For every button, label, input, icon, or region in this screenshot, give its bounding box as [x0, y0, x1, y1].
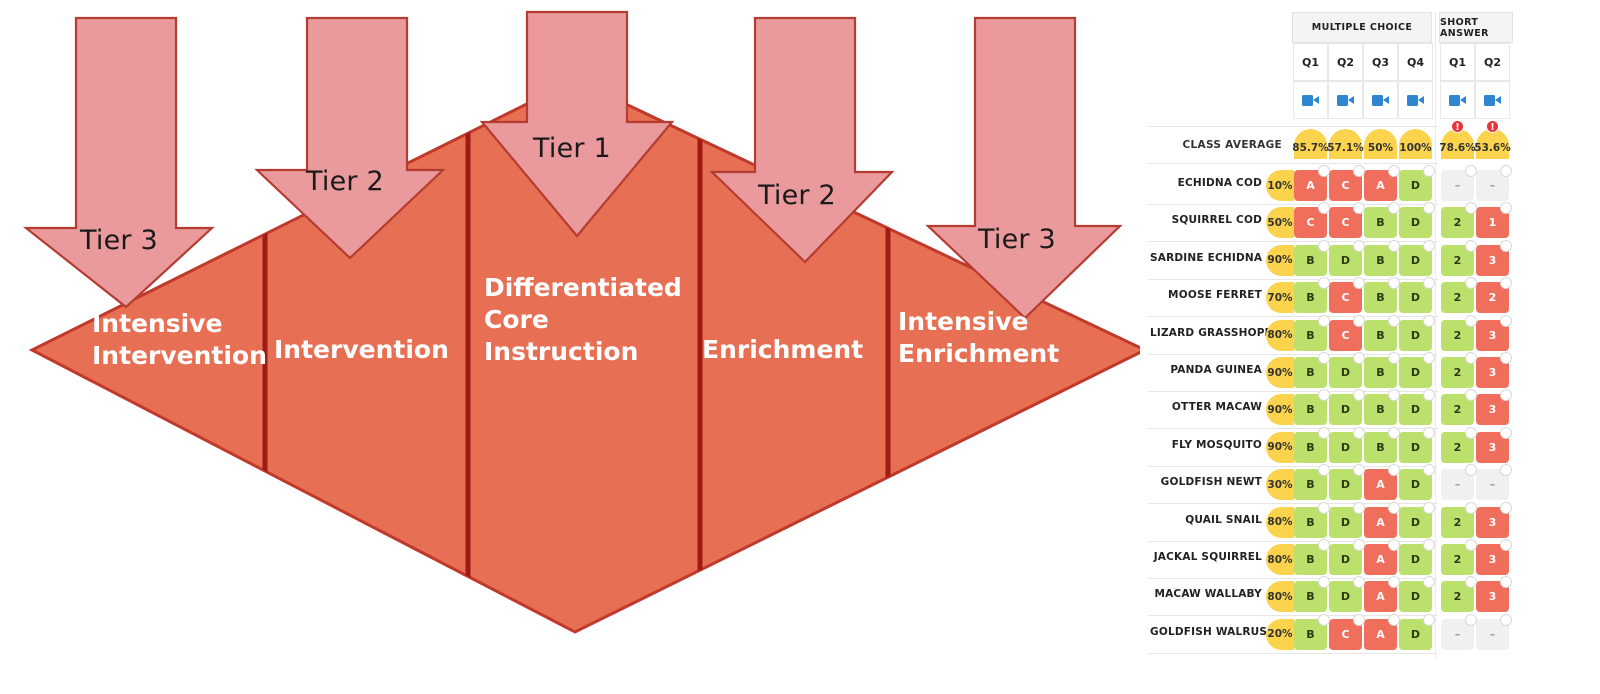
question-header-5[interactable]: Q2 [1475, 43, 1510, 81]
video-camera-icon [1484, 95, 1501, 106]
question-header-1[interactable]: Q2 [1328, 43, 1363, 81]
student-name-5[interactable]: PANDA GUINEA [1150, 364, 1262, 376]
student-score-2: 90% [1266, 245, 1294, 276]
student-score-5: 90% [1266, 357, 1294, 388]
student-score-6: 90% [1266, 394, 1294, 425]
class-average-label: CLASS AVERAGE [1150, 139, 1282, 151]
answer-marker-r7-c5[interactable] [1500, 427, 1512, 439]
row-separator-12 [1148, 653, 1438, 654]
student-score-1: 50% [1266, 207, 1294, 238]
class-average-value-4: 78.6% [1441, 129, 1474, 159]
answer-marker-r4-c2[interactable] [1388, 315, 1400, 327]
question-header-3[interactable]: Q4 [1398, 43, 1433, 81]
answer-marker-r6-c5[interactable] [1500, 389, 1512, 401]
band-label-intensive-enrichment: Intensive Enrichment [898, 306, 1059, 370]
answer-marker-r8-c3[interactable] [1423, 464, 1435, 476]
student-name-0[interactable]: ECHIDNA COD [1150, 177, 1262, 189]
student-score-10: 80% [1266, 544, 1294, 575]
answer-marker-r3-c5[interactable] [1500, 277, 1512, 289]
warning-exclamation-icon[interactable]: ! [1451, 120, 1464, 133]
class-average-value-1: 57.1% [1329, 129, 1362, 159]
student-name-7[interactable]: FLY MOSQUITO [1150, 439, 1262, 451]
answer-marker-r2-c0[interactable] [1318, 240, 1330, 252]
answer-marker-r10-c2[interactable] [1388, 539, 1400, 551]
answer-marker-r5-c5[interactable] [1500, 352, 1512, 364]
row-separator-avg-bottom [1148, 163, 1438, 164]
answer-marker-r0-c2[interactable] [1388, 165, 1400, 177]
student-score-11: 80% [1266, 581, 1294, 612]
answer-marker-r3-c3[interactable] [1423, 277, 1435, 289]
answer-marker-r5-c4[interactable] [1465, 352, 1477, 364]
answer-marker-r4-c1[interactable] [1353, 315, 1365, 327]
answer-marker-r11-c3[interactable] [1423, 576, 1435, 588]
answer-marker-r7-c4[interactable] [1465, 427, 1477, 439]
answer-marker-r4-c0[interactable] [1318, 315, 1330, 327]
answer-marker-r9-c5[interactable] [1500, 502, 1512, 514]
student-score-4: 80% [1266, 320, 1294, 351]
question-header-4[interactable]: Q1 [1440, 43, 1475, 81]
answer-marker-r10-c0[interactable] [1318, 539, 1330, 551]
answer-marker-r2-c5[interactable] [1500, 240, 1512, 252]
answer-marker-r9-c3[interactable] [1423, 502, 1435, 514]
answer-marker-r10-c1[interactable] [1353, 539, 1365, 551]
video-camera-icon [1449, 95, 1466, 106]
answer-marker-r10-c3[interactable] [1423, 539, 1435, 551]
rti-diamond-diagram: Tier 3 Tier 2 Tier 1 Tier 2 Tier 3 Inten… [0, 0, 1140, 694]
student-name-11[interactable]: MACAW WALLABY [1150, 588, 1262, 600]
answer-marker-r12-c2[interactable] [1388, 614, 1400, 626]
question-header-0[interactable]: Q1 [1293, 43, 1328, 81]
video-header-cell-3[interactable] [1398, 81, 1433, 119]
answer-marker-r1-c5[interactable] [1500, 202, 1512, 214]
answer-marker-r5-c3[interactable] [1423, 352, 1435, 364]
answer-marker-r1-c3[interactable] [1423, 202, 1435, 214]
answer-marker-r7-c3[interactable] [1423, 427, 1435, 439]
class-average-value-0: 85.7% [1294, 129, 1327, 159]
answer-marker-r0-c3[interactable] [1423, 165, 1435, 177]
answer-marker-r7-c2[interactable] [1388, 427, 1400, 439]
tier-arrow-label-5: Tier 3 [978, 224, 1056, 255]
video-header-cell-4[interactable] [1440, 81, 1475, 119]
student-score-12: 20% [1266, 619, 1294, 650]
answer-marker-r5-c2[interactable] [1388, 352, 1400, 364]
answer-marker-r2-c1[interactable] [1353, 240, 1365, 252]
answer-marker-r7-c0[interactable] [1318, 427, 1330, 439]
answer-marker-r9-c0[interactable] [1318, 502, 1330, 514]
answer-marker-r12-c1[interactable] [1353, 614, 1365, 626]
band-label-intensive-intervention: Intensive Intervention [92, 308, 267, 372]
answer-marker-r12-c5[interactable] [1500, 614, 1512, 626]
answer-marker-r10-c5[interactable] [1500, 539, 1512, 551]
video-camera-icon [1372, 95, 1389, 106]
answer-marker-r9-c2[interactable] [1388, 502, 1400, 514]
gradebook-grid: MULTIPLE CHOICESHORT ANSWERQ1Q2Q3Q4Q1Q2C… [1140, 0, 1600, 694]
answer-marker-r4-c4[interactable] [1465, 315, 1477, 327]
answer-marker-r12-c4[interactable] [1465, 614, 1477, 626]
video-camera-icon [1337, 95, 1354, 106]
answer-marker-r6-c3[interactable] [1423, 389, 1435, 401]
warning-exclamation-icon[interactable]: ! [1486, 120, 1499, 133]
student-score-8: 30% [1266, 469, 1294, 500]
answer-marker-r7-c1[interactable] [1353, 427, 1365, 439]
student-name-6[interactable]: OTTER MACAW [1150, 401, 1262, 413]
answer-marker-r2-c4[interactable] [1465, 240, 1477, 252]
student-score-3: 70% [1266, 282, 1294, 313]
row-separator-avg-top [1148, 126, 1438, 127]
answer-marker-r11-c5[interactable] [1500, 576, 1512, 588]
question-header-2[interactable]: Q3 [1363, 43, 1398, 81]
student-score-9: 80% [1266, 507, 1294, 538]
answer-marker-r0-c0[interactable] [1318, 165, 1330, 177]
student-name-1[interactable]: SQUIRREL COD [1150, 214, 1262, 226]
student-name-9[interactable]: QUAIL SNAIL [1150, 514, 1262, 526]
student-score-7: 90% [1266, 432, 1294, 463]
answer-marker-r4-c3[interactable] [1423, 315, 1435, 327]
group-header-multiple-choice: MULTIPLE CHOICE [1292, 12, 1432, 43]
video-header-cell-0[interactable] [1293, 81, 1328, 119]
answer-marker-r0-c4[interactable] [1465, 165, 1477, 177]
tier-arrow-label-3: Tier 1 [533, 133, 611, 164]
answer-marker-r0-c5[interactable] [1500, 165, 1512, 177]
answer-marker-r4-c5[interactable] [1500, 315, 1512, 327]
student-name-2[interactable]: SARDINE ECHIDNA [1150, 252, 1262, 264]
gradebook-panel: MULTIPLE CHOICESHORT ANSWERQ1Q2Q3Q4Q1Q2C… [1140, 0, 1600, 694]
answer-marker-r2-c2[interactable] [1388, 240, 1400, 252]
class-average-value-2: 50% [1364, 129, 1397, 159]
video-camera-icon [1407, 95, 1424, 106]
band-label-intervention: Intervention [274, 334, 449, 366]
student-score-0: 10% [1266, 170, 1294, 201]
answer-marker-r5-c1[interactable] [1353, 352, 1365, 364]
student-name-8[interactable]: GOLDFISH NEWT [1150, 476, 1262, 488]
class-average-value-5: 53.6% [1476, 129, 1509, 159]
group-column-separator [1435, 12, 1436, 658]
answer-marker-r8-c5[interactable] [1500, 464, 1512, 476]
tier-arrow-label-4: Tier 2 [758, 180, 836, 211]
student-name-12[interactable]: GOLDFISH WALRUS [1150, 626, 1262, 638]
video-camera-icon [1302, 95, 1319, 106]
student-name-3[interactable]: MOOSE FERRET [1150, 289, 1262, 301]
answer-marker-r9-c4[interactable] [1465, 502, 1477, 514]
tier-arrow-label-2: Tier 2 [306, 166, 384, 197]
student-name-4[interactable]: LIZARD GRASSHOPPER [1150, 327, 1262, 339]
tier-arrow-1 [26, 18, 212, 307]
video-header-cell-5[interactable] [1475, 81, 1510, 119]
answer-marker-r9-c1[interactable] [1353, 502, 1365, 514]
answer-marker-r2-c3[interactable] [1423, 240, 1435, 252]
answer-marker-r10-c4[interactable] [1465, 539, 1477, 551]
answer-marker-r0-c1[interactable] [1353, 165, 1365, 177]
answer-marker-r12-c0[interactable] [1318, 614, 1330, 626]
band-label-enrichment: Enrichment [702, 334, 863, 366]
answer-marker-r12-c3[interactable] [1423, 614, 1435, 626]
video-header-cell-1[interactable] [1328, 81, 1363, 119]
page-root: Tier 3 Tier 2 Tier 1 Tier 2 Tier 3 Inten… [0, 0, 1600, 694]
video-header-cell-2[interactable] [1363, 81, 1398, 119]
answer-marker-r5-c0[interactable] [1318, 352, 1330, 364]
band-label-core-instruction: Differentiated Core Instruction [484, 272, 682, 367]
tier-arrow-label-1: Tier 3 [80, 225, 158, 256]
class-average-value-3: 100% [1399, 129, 1432, 159]
group-header-short-answer: SHORT ANSWER [1439, 12, 1513, 43]
student-name-10[interactable]: JACKAL SQUIRREL [1150, 551, 1262, 563]
